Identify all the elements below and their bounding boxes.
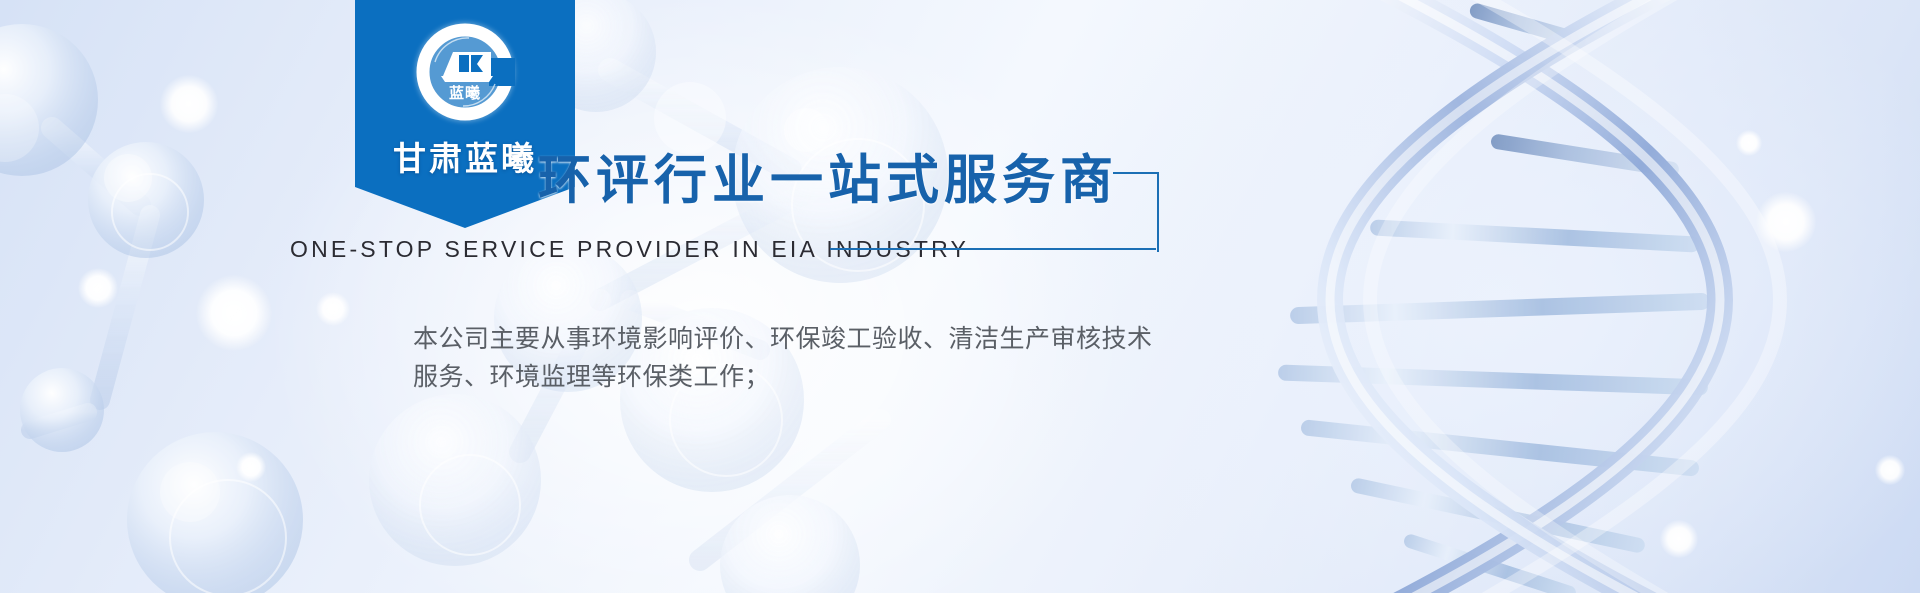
accent-bracket (1113, 172, 1159, 252)
molecule-glass-spheres-icon (0, 24, 303, 593)
sail-boat-emblem-icon: 蓝曦 (407, 14, 523, 130)
dna-double-helix-icon (0, 0, 1920, 593)
bokeh-light-dots-icon (78, 268, 118, 308)
bokeh-light-dots-icon (1736, 130, 1762, 156)
hero-banner: 蓝曦 甘肃蓝曦 环评行业一站式服务商 ONE-STOP SERVICE PROV… (0, 0, 1920, 593)
background-artwork (0, 0, 1920, 593)
bokeh-light-dots-icon (316, 292, 350, 326)
description-line-1: 本公司主要从事环境影响评价、环保竣工验收、清洁生产审核技术 (413, 320, 1203, 358)
bokeh-light-dots-icon (236, 452, 266, 482)
description-text: 本公司主要从事环境影响评价、环保竣工验收、清洁生产审核技术 服务、环境监理等环保… (413, 320, 1203, 396)
description-line-2: 服务、环境监理等环保类工作； (413, 358, 1203, 396)
bokeh-light-dots-icon (1756, 192, 1816, 252)
logo-wordmark: 蓝曦 (449, 84, 481, 102)
bokeh-light-dots-icon (160, 75, 218, 133)
bokeh-light-dots-icon (1660, 520, 1698, 558)
bokeh-light-dots-icon (196, 275, 272, 351)
bokeh-light-dots-icon (1875, 455, 1905, 485)
page-title: 环评行业一站式服务商 (538, 138, 1118, 214)
accent-rule (830, 248, 1156, 250)
